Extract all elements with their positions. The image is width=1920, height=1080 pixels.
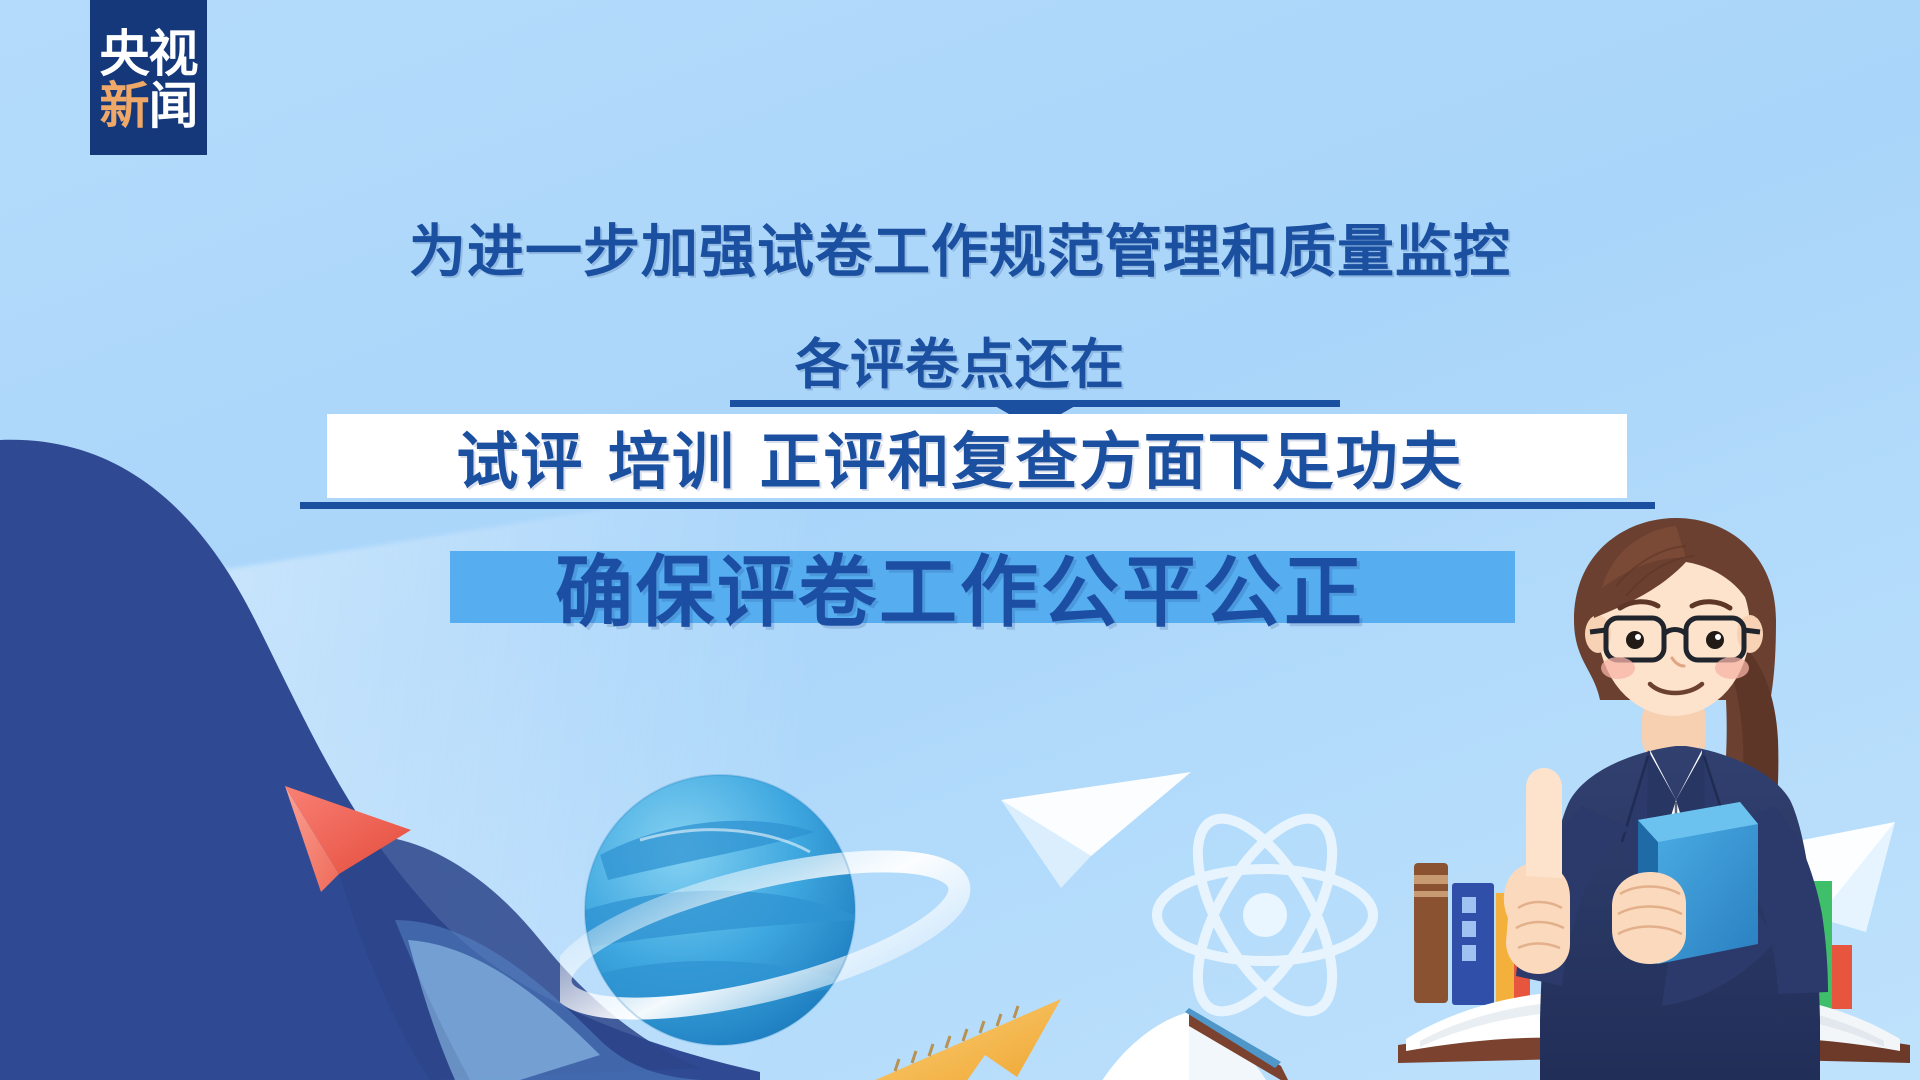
logo-char-wen: 闻 [149, 81, 198, 131]
teacher-figure [1490, 500, 1910, 1080]
logo-row-top: 央 视 [100, 29, 198, 79]
open-book-small [1085, 1000, 1305, 1080]
headline-line-3: 试评 培训 正评和复查方面下足功夫 [0, 412, 1920, 500]
headline-line-1: 为进一步加强试卷工作规范管理和质量监控 [0, 206, 1920, 288]
atom-symbol [1145, 795, 1385, 1035]
red-paper-plane [277, 770, 427, 900]
headline-line-2: 各评卷点还在 [0, 320, 1920, 399]
logo-char-xin: 新 [100, 81, 149, 131]
logo-char-yang: 央 [100, 29, 149, 79]
logo-char-shi: 视 [149, 29, 198, 79]
underline-rule [300, 502, 1655, 509]
logo-row-bottom: 新 闻 [100, 81, 198, 131]
cctv-news-logo[interactable]: 央 视 新 闻 [90, 0, 207, 155]
